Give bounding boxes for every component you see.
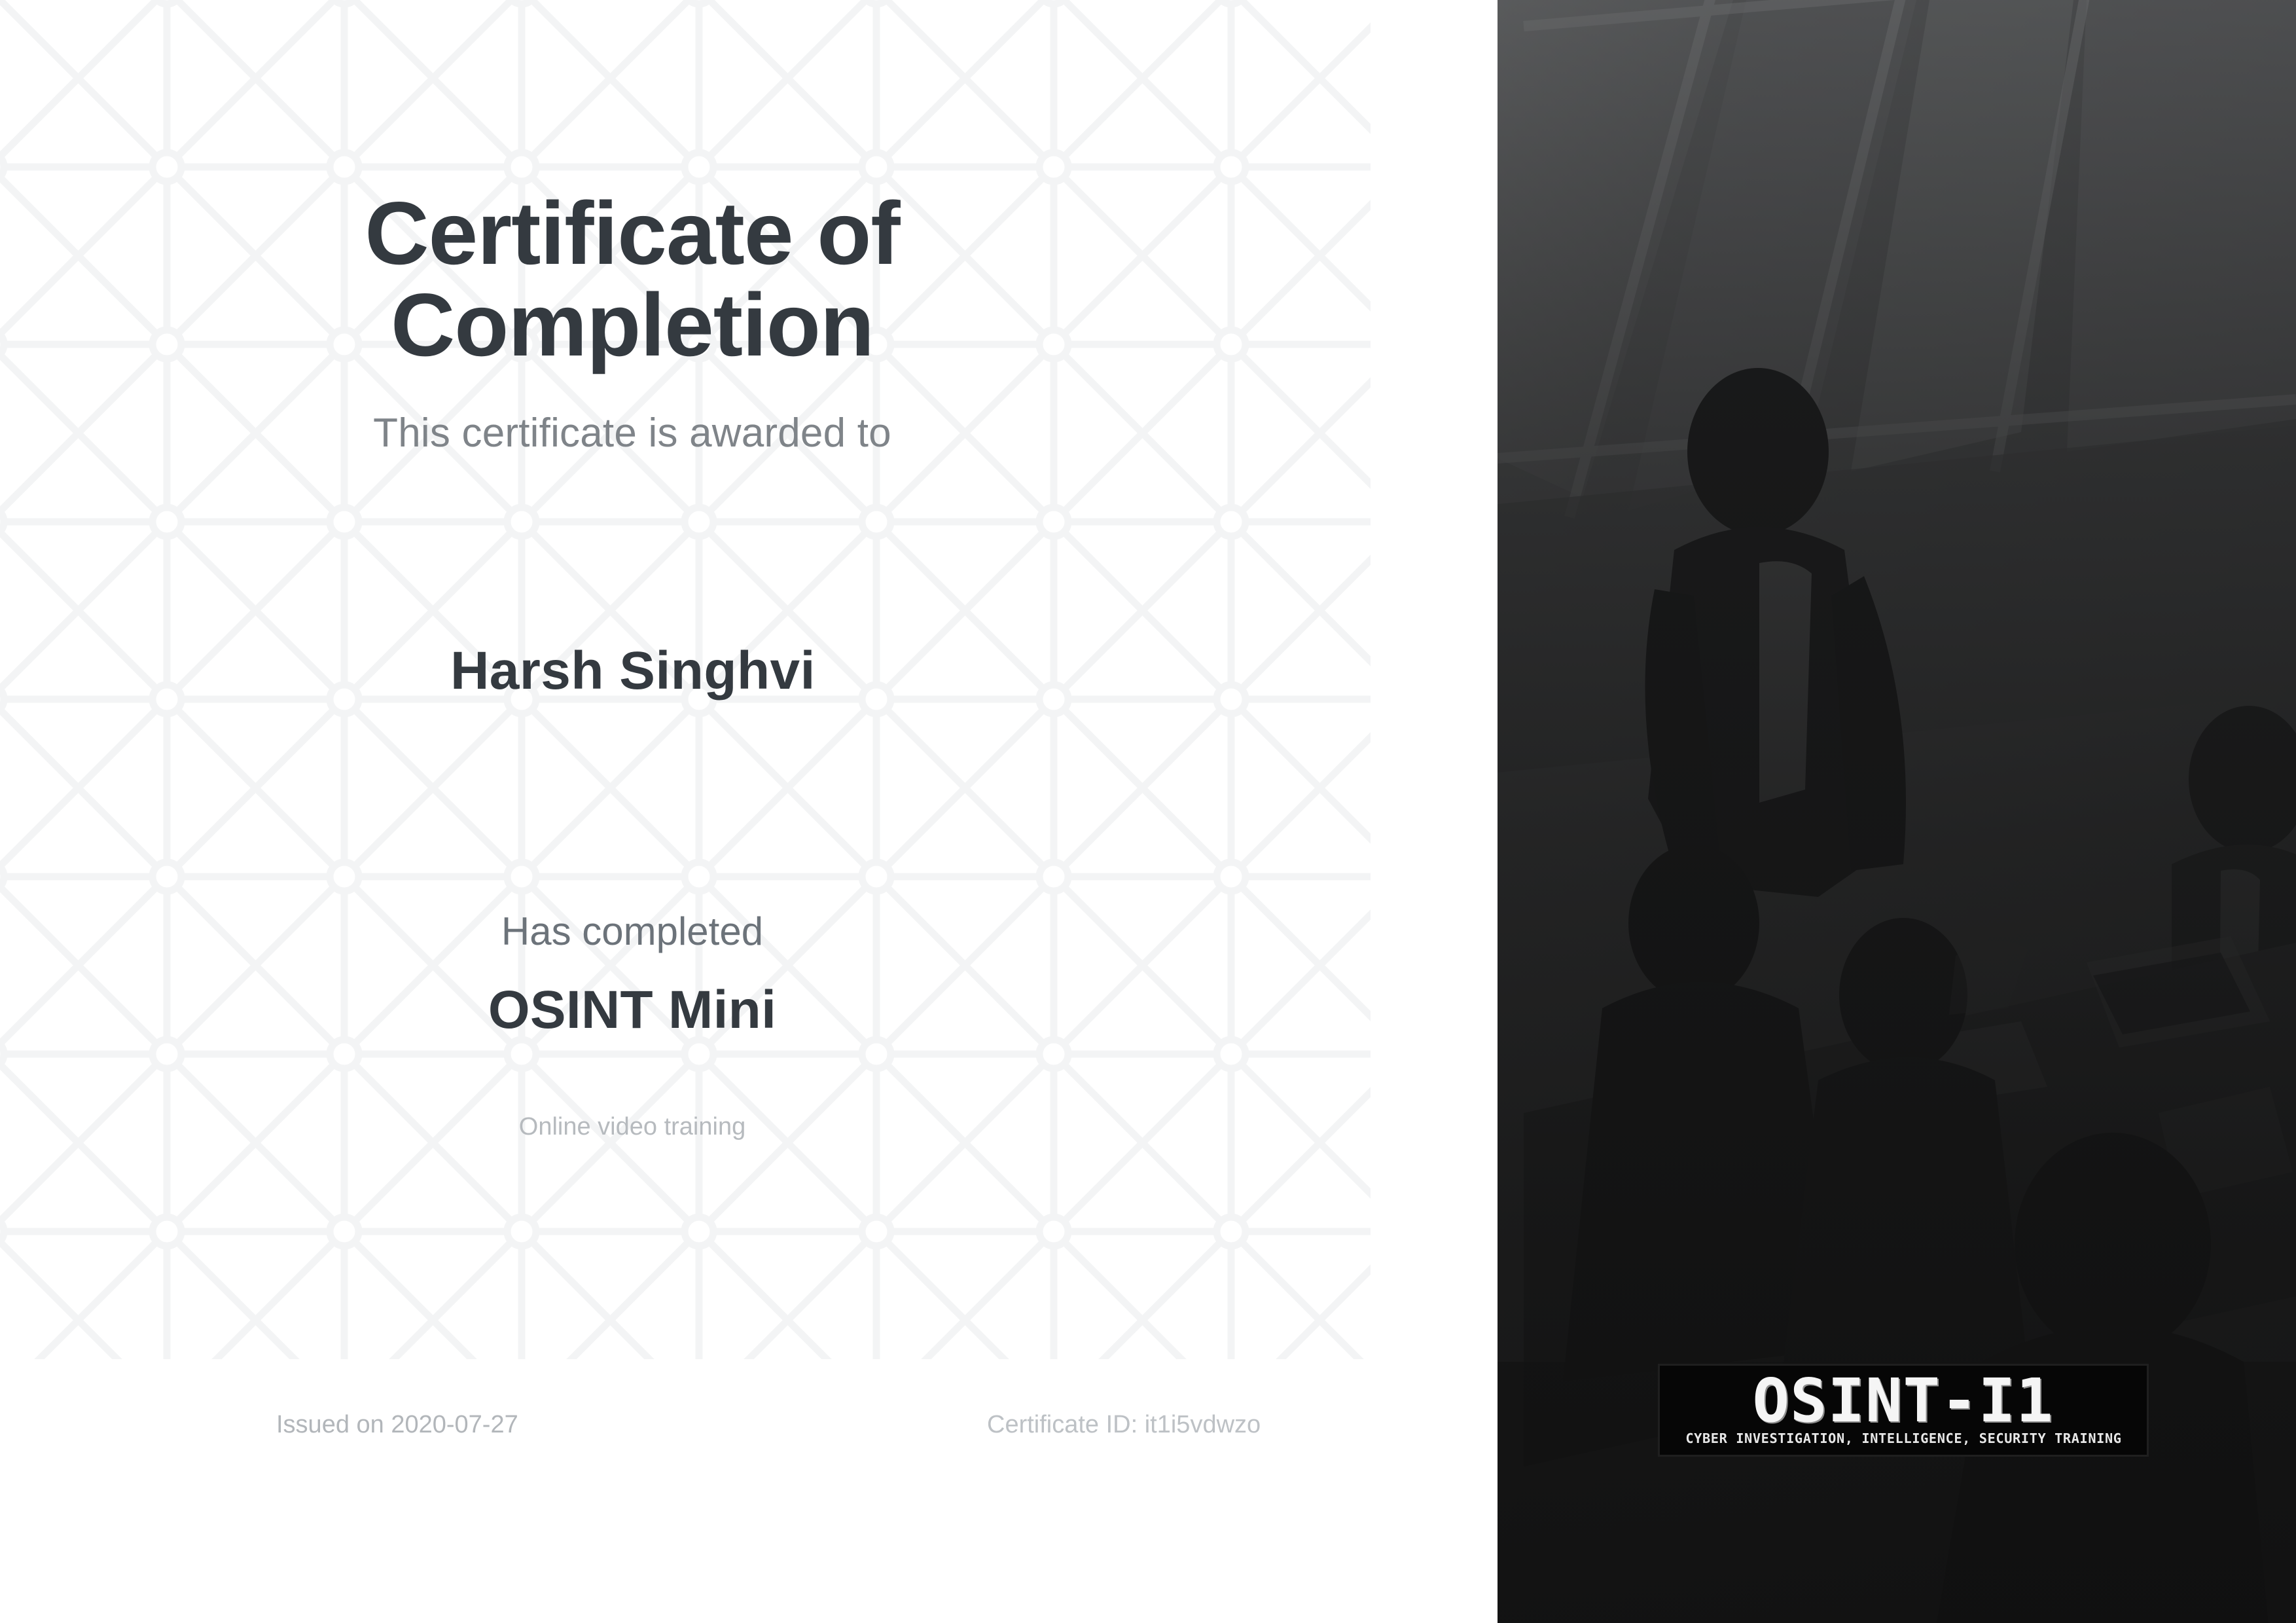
course-title: OSINT Mini (0, 979, 1265, 1041)
issued-on-date: Issued on 2020-07-27 (276, 1411, 518, 1439)
certificate-left-panel: Certificate of Completion This certifica… (0, 0, 1498, 1623)
recipient-name: Harsh Singhvi (0, 640, 1266, 702)
certificate-title-line-1: Certificate of (0, 187, 1265, 279)
course-subtitle: Online video training (0, 1113, 1265, 1141)
logo-tagline: CYBER INVESTIGATION, INTELLIGENCE, SECUR… (1685, 1432, 2121, 1446)
certificate-footer: Issued on 2020-07-27 Certificate ID: it1… (0, 1411, 1498, 1450)
brand-logo: OSINT-I1 CYBER INVESTIGATION, INTELLIGEN… (1658, 1364, 2149, 1457)
certificate-id: Certificate ID: it1i5vdwzo (987, 1411, 1261, 1439)
certificate-document: Certificate of Completion This certifica… (0, 0, 2296, 1623)
logo-wordmark: OSINT-I1 (1753, 1374, 2054, 1429)
certificate-title-line-2: Completion (0, 279, 1265, 371)
awarded-to-label: This certificate is awarded to (0, 410, 1265, 456)
certificate-content: Certificate of Completion This certifica… (0, 0, 1498, 1623)
certificate-right-panel: OSINT-I1 CYBER INVESTIGATION, INTELLIGEN… (1498, 0, 2296, 1623)
page-title: Certificate of Completion (0, 187, 1265, 371)
has-completed-label: Has completed (0, 909, 1265, 954)
